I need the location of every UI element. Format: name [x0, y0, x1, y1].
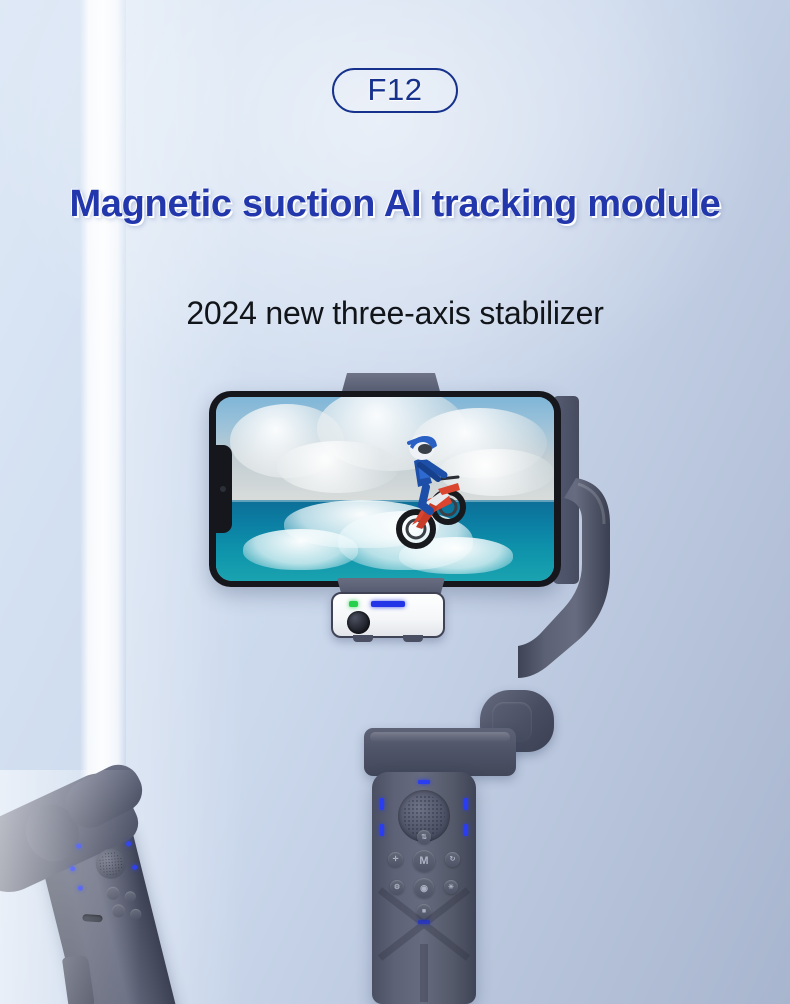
folded-gimbal-control-panel [54, 834, 149, 951]
status-led-green [349, 601, 358, 607]
battery-led-right-1 [464, 798, 468, 810]
product-illustration: ⇅ M ✛ ↻ ◉ ⚙ ☀ ■ [0, 0, 790, 1004]
handle-grip-texture [372, 884, 476, 1004]
module-foot [403, 635, 423, 642]
folded-joystick-texture [98, 851, 124, 877]
folded-mode-button[interactable] [106, 886, 120, 900]
folded-battery-led [78, 885, 83, 890]
phone-notch [216, 445, 232, 533]
zoom-button[interactable]: ⇅ [417, 830, 431, 844]
cloud-shape [277, 441, 399, 493]
gimbal-handle: ⇅ M ✛ ↻ ◉ ⚙ ☀ ■ [372, 772, 476, 1004]
battery-led-right-2 [464, 824, 468, 836]
product-banner: F12 Magnetic suction AI tracking module … [0, 0, 790, 1004]
folded-gimbal-view [0, 744, 295, 1004]
wave-foam [243, 529, 358, 569]
battery-led-left-1 [380, 798, 384, 810]
status-led-blue [371, 601, 405, 607]
usb-c-port-icon [82, 914, 102, 922]
module-foot [353, 635, 373, 642]
smartphone [209, 391, 561, 587]
battery-led-top [418, 780, 430, 784]
gimbal-roll-arm [518, 476, 614, 726]
mode-button[interactable]: M [413, 850, 435, 872]
folded-battery-led [70, 866, 75, 871]
folded-record-button[interactable] [130, 908, 142, 920]
battery-led-left-2 [380, 824, 384, 836]
front-camera-icon [220, 486, 226, 492]
rotate-button[interactable]: ↻ [445, 852, 460, 867]
yaw-bar-highlight [370, 732, 510, 742]
folded-battery-led [132, 865, 137, 870]
module-camera-lens-icon [347, 611, 370, 634]
joystick-mode-button[interactable]: ✛ [388, 852, 403, 867]
folded-gimbal-joystick[interactable] [95, 848, 128, 881]
folded-shutter-button[interactable] [111, 904, 125, 918]
gimbal-yaw-bar [364, 728, 516, 776]
folded-battery-led [76, 843, 81, 848]
motocross-rider [392, 433, 468, 557]
phone-screen [216, 397, 554, 581]
folded-rotate-button[interactable] [124, 891, 136, 903]
ai-tracking-module [331, 592, 445, 638]
folded-battery-led [126, 841, 131, 846]
